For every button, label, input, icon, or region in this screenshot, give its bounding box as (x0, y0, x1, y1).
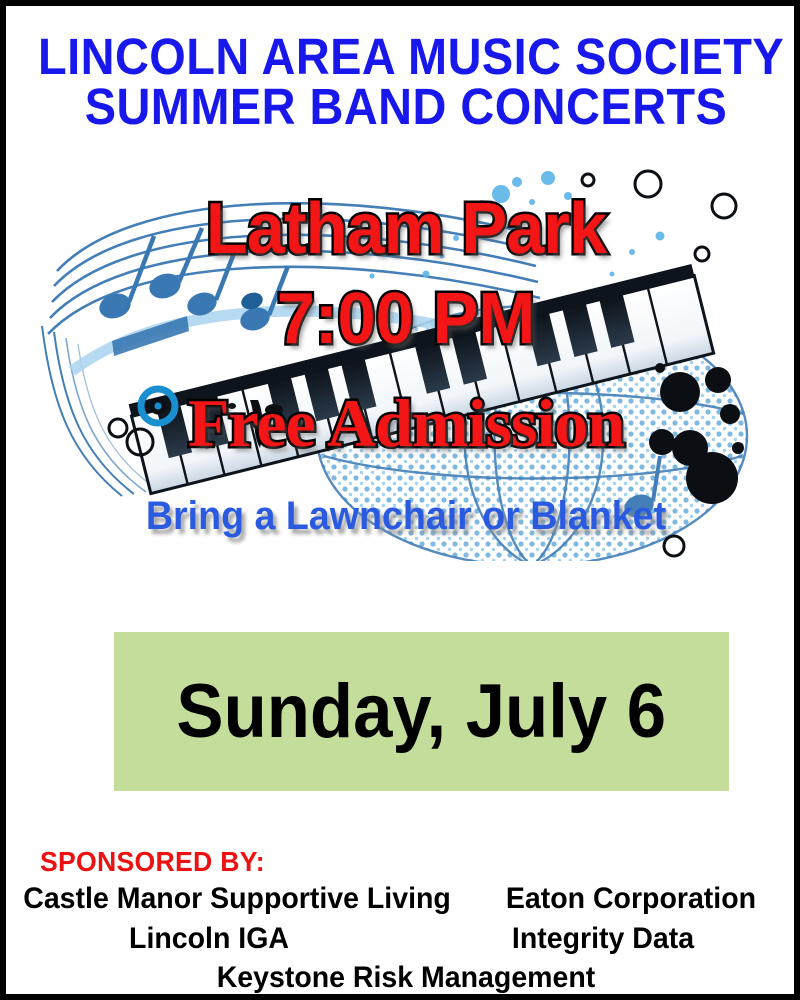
date-panel: Sunday, July 6 (114, 632, 729, 791)
instruction-text: Bring a Lawnchair or Blanket (36, 494, 777, 539)
venue-text: Latham Park (32, 188, 781, 270)
poster: LINCOLN AREA MUSIC SOCIETY SUMMER BAND C… (0, 0, 800, 1000)
sponsor-row: Castle Manor Supportive Living Eaton Cor… (12, 881, 800, 918)
sponsors-section: SPONSORED BY: Castle Manor Supportive Li… (12, 846, 800, 997)
sponsor-name: Lincoln IGA (22, 921, 396, 958)
sponsor-name: Keystone Risk Management (32, 960, 781, 997)
date-text: Sunday, July 6 (177, 668, 667, 755)
sponsor-name: Castle Manor Supportive Living (23, 881, 451, 918)
headline-line-1: LINCOLN AREA MUSIC SOCIETY (38, 32, 774, 82)
sponsor-name: Integrity Data (416, 921, 790, 958)
sponsored-by-heading: SPONSORED BY: (40, 846, 762, 878)
sponsor-row: Lincoln IGA Integrity Data (12, 921, 800, 958)
headline-line-2: SUMMER BAND CONCERTS (38, 82, 774, 132)
poster-headline: LINCOLN AREA MUSIC SOCIETY SUMMER BAND C… (6, 32, 800, 132)
artwork-band: Latham Park 7:00 PM Free Admission Bring… (12, 156, 800, 561)
time-text: 7:00 PM (32, 278, 781, 360)
admission-text: Free Admission (12, 384, 800, 463)
sponsor-name: Eaton Corporation (471, 881, 792, 918)
sponsor-row: Keystone Risk Management (12, 960, 800, 997)
